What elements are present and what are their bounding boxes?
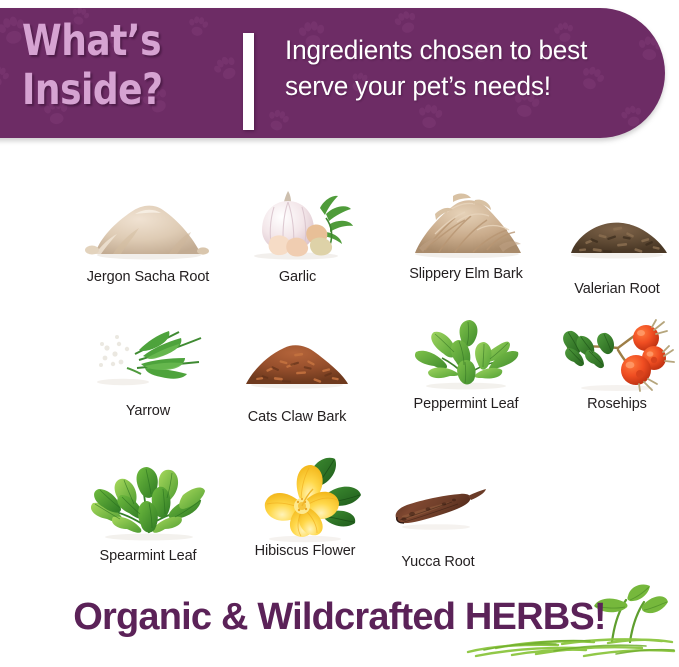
ingredient-item-garlic: Garlic [240,188,355,285]
ingredient-item-rosehips: Rosehips [560,318,674,412]
yarrow-sprig-icon [83,320,213,390]
dark-granules-icon [557,200,677,260]
ingredient-label: Peppermint Leaf [404,396,528,412]
yucca-root-icon [388,480,488,535]
footer-headline: Organic & Wildcrafted HERBS! [73,596,606,639]
ingredient-item-yucca-root: Yucca Root [388,480,488,570]
page-title: What’s Inside? [22,17,217,115]
ingredient-label: Slippery Elm Bark [401,266,531,282]
ingredient-label: Cats Claw Bark [236,409,358,425]
ingredient-item-yarrow: Yarrow [83,320,213,419]
ingredient-label: Spearmint Leaf [83,548,213,564]
header-banner: What’s Inside? Ingredients chosen to bes… [0,8,665,138]
ingredient-label: Rosehips [560,396,674,412]
peppermint-leaves-icon [404,318,528,392]
ingredient-item-peppermint-leaf: Peppermint Leaf [404,318,528,412]
green-grass-icon [466,636,676,658]
ingredient-label: Yucca Root [388,554,488,570]
garlic-bulb-icon [240,188,355,260]
ingredient-item-spearmint-leaf: Spearmint Leaf [83,463,213,564]
header-content: What’s Inside? Ingredients chosen to bes… [0,8,665,138]
red-bark-pile-icon [236,330,358,390]
ingredient-item-jergon-sacha-root: Jergon Sacha Root [83,188,213,285]
ingredient-label: Hibiscus Flower [243,543,367,559]
ingredient-item-cats-claw-bark: Cats Claw Bark [236,330,358,425]
ingredient-label: Yarrow [83,403,213,419]
header-divider [243,33,254,130]
ingredient-label: Garlic [240,269,355,285]
footer: Organic & Wildcrafted HERBS! [0,592,679,667]
header-subtitle: Ingredients chosen to best serve your pe… [285,32,644,104]
spearmint-leaves-icon [83,463,213,543]
powder-pile-tan-icon [83,188,213,260]
hibiscus-flower-icon [243,455,367,543]
ingredient-item-slippery-elm-bark: Slippery Elm Bark [401,182,531,282]
ingredient-label: Jergon Sacha Root [83,269,213,285]
ingredient-label: Valerian Root [557,281,677,297]
ingredient-item-hibiscus-flower: Hibiscus Flower [243,455,367,559]
rosehip-berries-icon [560,318,674,392]
shredded-bark-icon [401,182,531,260]
ingredient-item-valerian-root: Valerian Root [557,200,677,297]
